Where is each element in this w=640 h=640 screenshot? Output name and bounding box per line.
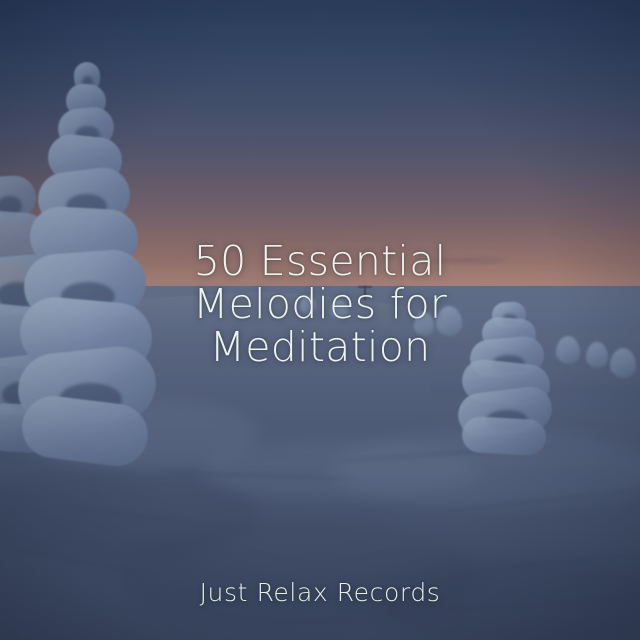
album-cover: 50 Essential Melodies for Meditation Jus… [0,0,640,640]
vignette-overlay [0,0,640,640]
